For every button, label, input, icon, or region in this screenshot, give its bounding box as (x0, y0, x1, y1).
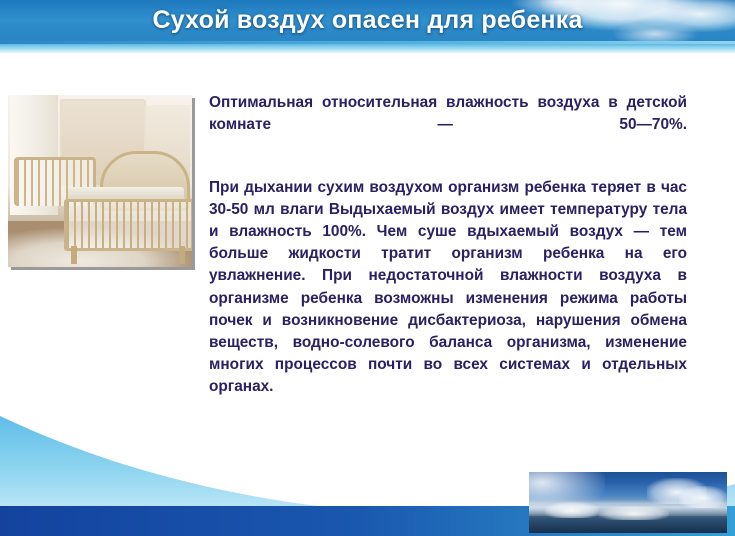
crib-leg (179, 246, 185, 264)
crib-front-rail (64, 199, 192, 251)
photo-crib (12, 141, 184, 259)
cloud-icon (679, 486, 727, 508)
cloud-icon (545, 502, 599, 518)
cloud-icon (599, 506, 669, 520)
slide-title: Сухой воздух опасен для ребенка (0, 6, 735, 35)
crib-leg (71, 246, 77, 264)
sky-clouds-photo (529, 472, 727, 533)
header-accent-strip (0, 44, 735, 53)
slide-text-block: Оптимальная относительная влажность возд… (209, 92, 687, 421)
nursery-crib-photo (8, 95, 192, 267)
lead-paragraph: Оптимальная относительная влажность возд… (209, 92, 687, 159)
presentation-slide: Сухой воздух опасен для ребенка Оптималь… (0, 0, 735, 536)
